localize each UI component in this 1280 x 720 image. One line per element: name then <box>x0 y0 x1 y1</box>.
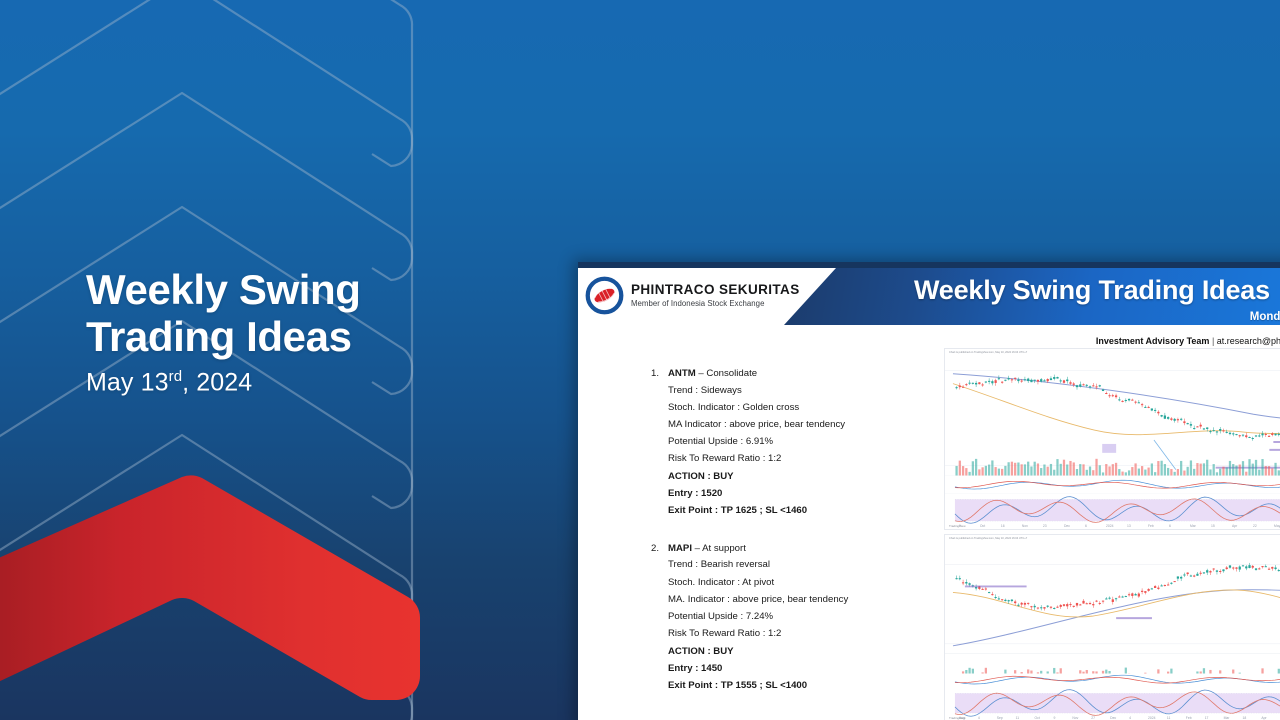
cover-date-ordinal: rd <box>169 368 183 385</box>
svg-text:Mar: Mar <box>1224 716 1231 720</box>
svg-text:22: 22 <box>1253 524 1257 528</box>
idea-rrr: Risk To Reward Ratio : 1:2 <box>668 629 951 640</box>
idea-ma: MA Indicator : above price, bear tendenc… <box>668 420 951 431</box>
idea-action: ACTION : BUY <box>668 647 951 658</box>
company-tagline: Member of Indonesia Stock Exchange <box>631 299 800 308</box>
svg-text:13: 13 <box>1127 524 1131 528</box>
slide-top-strip <box>578 262 1280 268</box>
svg-text:6: 6 <box>1085 524 1087 528</box>
svg-text:Mar: Mar <box>1190 524 1197 528</box>
cover-date: May 13rd, 2024 <box>86 368 516 397</box>
idea-trend: Trend : Sideways <box>668 386 951 397</box>
title-line-1: Weekly Swing <box>86 266 516 313</box>
idea-number: 2. <box>651 543 668 554</box>
antm-candlestick-chart[interactable]: 9Oct16Nov23Dec6202413Feb6Mar15Apr22May17… <box>944 348 1280 530</box>
chart2-brand: TradingView <box>949 716 966 720</box>
svg-text:Nov: Nov <box>1072 716 1078 720</box>
advisory-email: at.research@phintracosekuritas <box>1217 336 1280 346</box>
idea-dash: – <box>698 368 703 379</box>
cover-date-prefix: May 13 <box>86 368 169 396</box>
advisory-separator: | <box>1212 336 1214 346</box>
idea-ticker: MAPI <box>668 543 692 554</box>
idea-action: ACTION : BUY <box>668 472 951 483</box>
idea-ma: MA. Indicator : above price, bear tenden… <box>668 595 951 606</box>
svg-text:Dec: Dec <box>1110 716 1116 720</box>
mapi-candlestick-chart[interactable]: Aug4Sep11Oct9Nov27Dec4202411Feb17Mar18Ap… <box>944 534 1280 720</box>
chart2-meta: Chart is published on TradingView.com, M… <box>949 537 1027 540</box>
svg-text:Feb: Feb <box>1148 524 1154 528</box>
advisory-team-line: Investment Advisory Team | at.research@p… <box>1096 336 1280 346</box>
idea-dash: – <box>695 543 700 554</box>
idea-rrr: Risk To Reward Ratio : 1:2 <box>668 454 951 465</box>
svg-text:18: 18 <box>1243 716 1247 720</box>
svg-text:11: 11 <box>1016 716 1020 720</box>
cover-title-block: Weekly Swing Trading Ideas May 13rd, 202… <box>86 266 516 397</box>
svg-text:15: 15 <box>1211 524 1215 528</box>
svg-text:Oct: Oct <box>1035 716 1040 720</box>
idea-number: 1. <box>651 368 668 379</box>
idea-exit: Exit Point : TP 1555 ; SL <1400 <box>668 681 951 692</box>
chart1-canvas: 9Oct16Nov23Dec6202413Feb6Mar15Apr22May17… <box>945 349 1280 529</box>
svg-text:23: 23 <box>1043 524 1047 528</box>
presentation-slide[interactable]: PHINTRACO SEKURITAS Member of Indonesia … <box>578 262 1280 720</box>
cover-date-suffix: , 2024 <box>182 368 252 396</box>
list-item: 2. MAPI – At support Trend : Bearish rev… <box>651 543 951 692</box>
trading-ideas-list: 1. ANTM – Consolidate Trend : Sideways S… <box>651 368 951 718</box>
idea-ticker: ANTM <box>668 368 696 379</box>
idea-entry: Entry : 1520 <box>668 489 951 500</box>
page-title: Weekly Swing Trading Ideas <box>86 266 516 361</box>
svg-text:6: 6 <box>1169 524 1171 528</box>
idea-state: Consolidate <box>706 368 757 379</box>
chart2-canvas: Aug4Sep11Oct9Nov27Dec4202411Feb17Mar18Ap… <box>945 535 1280 720</box>
svg-text:2024: 2024 <box>1148 716 1156 720</box>
svg-text:Apr: Apr <box>1232 524 1238 528</box>
idea-state: At support <box>702 543 746 554</box>
svg-text:Apr: Apr <box>1261 716 1267 720</box>
chart1-brand: TradingView <box>949 524 966 528</box>
idea-entry: Entry : 1450 <box>668 664 951 675</box>
svg-text:Feb: Feb <box>1186 716 1192 720</box>
company-logo: PHINTRACO SEKURITAS Member of Indonesia … <box>585 276 800 315</box>
idea-exit: Exit Point : TP 1625 ; SL <1460 <box>668 506 951 517</box>
svg-text:Oct: Oct <box>980 524 985 528</box>
svg-text:4: 4 <box>1129 716 1131 720</box>
idea-stoch: Stoch. Indicator : At pivot <box>668 578 951 589</box>
svg-text:4: 4 <box>978 716 980 720</box>
svg-text:16: 16 <box>1001 524 1005 528</box>
svg-text:27: 27 <box>1091 716 1095 720</box>
idea-heading: 2. MAPI – At support <box>651 543 951 554</box>
svg-text:Nov: Nov <box>1022 524 1028 528</box>
slide-banner-date: Monday, May 13th <box>1250 311 1280 323</box>
svg-text:Sep: Sep <box>997 716 1003 720</box>
slide-banner-title: Weekly Swing Trading Ideas <box>914 275 1270 306</box>
svg-text:May: May <box>1274 524 1280 528</box>
chart1-meta: Chart is published on TradingView.com, M… <box>949 351 1027 354</box>
title-line-2: Trading Ideas <box>86 313 516 360</box>
phintraco-logo-icon <box>585 276 624 315</box>
idea-stoch: Stoch. Indicator : Golden cross <box>668 403 951 414</box>
company-name: PHINTRACO SEKURITAS <box>631 283 800 298</box>
list-item: 1. ANTM – Consolidate Trend : Sideways S… <box>651 368 951 517</box>
idea-heading: 1. ANTM – Consolidate <box>651 368 951 379</box>
advisory-team-name: Investment Advisory Team <box>1096 336 1210 346</box>
idea-trend: Trend : Bearish reversal <box>668 560 951 571</box>
slide-banner: Weekly Swing Trading Ideas Monday, May 1… <box>784 268 1280 325</box>
svg-text:11: 11 <box>1167 716 1171 720</box>
svg-text:2024: 2024 <box>1106 524 1114 528</box>
svg-text:17: 17 <box>1205 716 1209 720</box>
svg-text:9: 9 <box>1053 716 1055 720</box>
svg-text:Dec: Dec <box>1064 524 1070 528</box>
idea-upside: Potential Upside : 7.24% <box>668 612 951 623</box>
idea-upside: Potential Upside : 6.91% <box>668 437 951 448</box>
